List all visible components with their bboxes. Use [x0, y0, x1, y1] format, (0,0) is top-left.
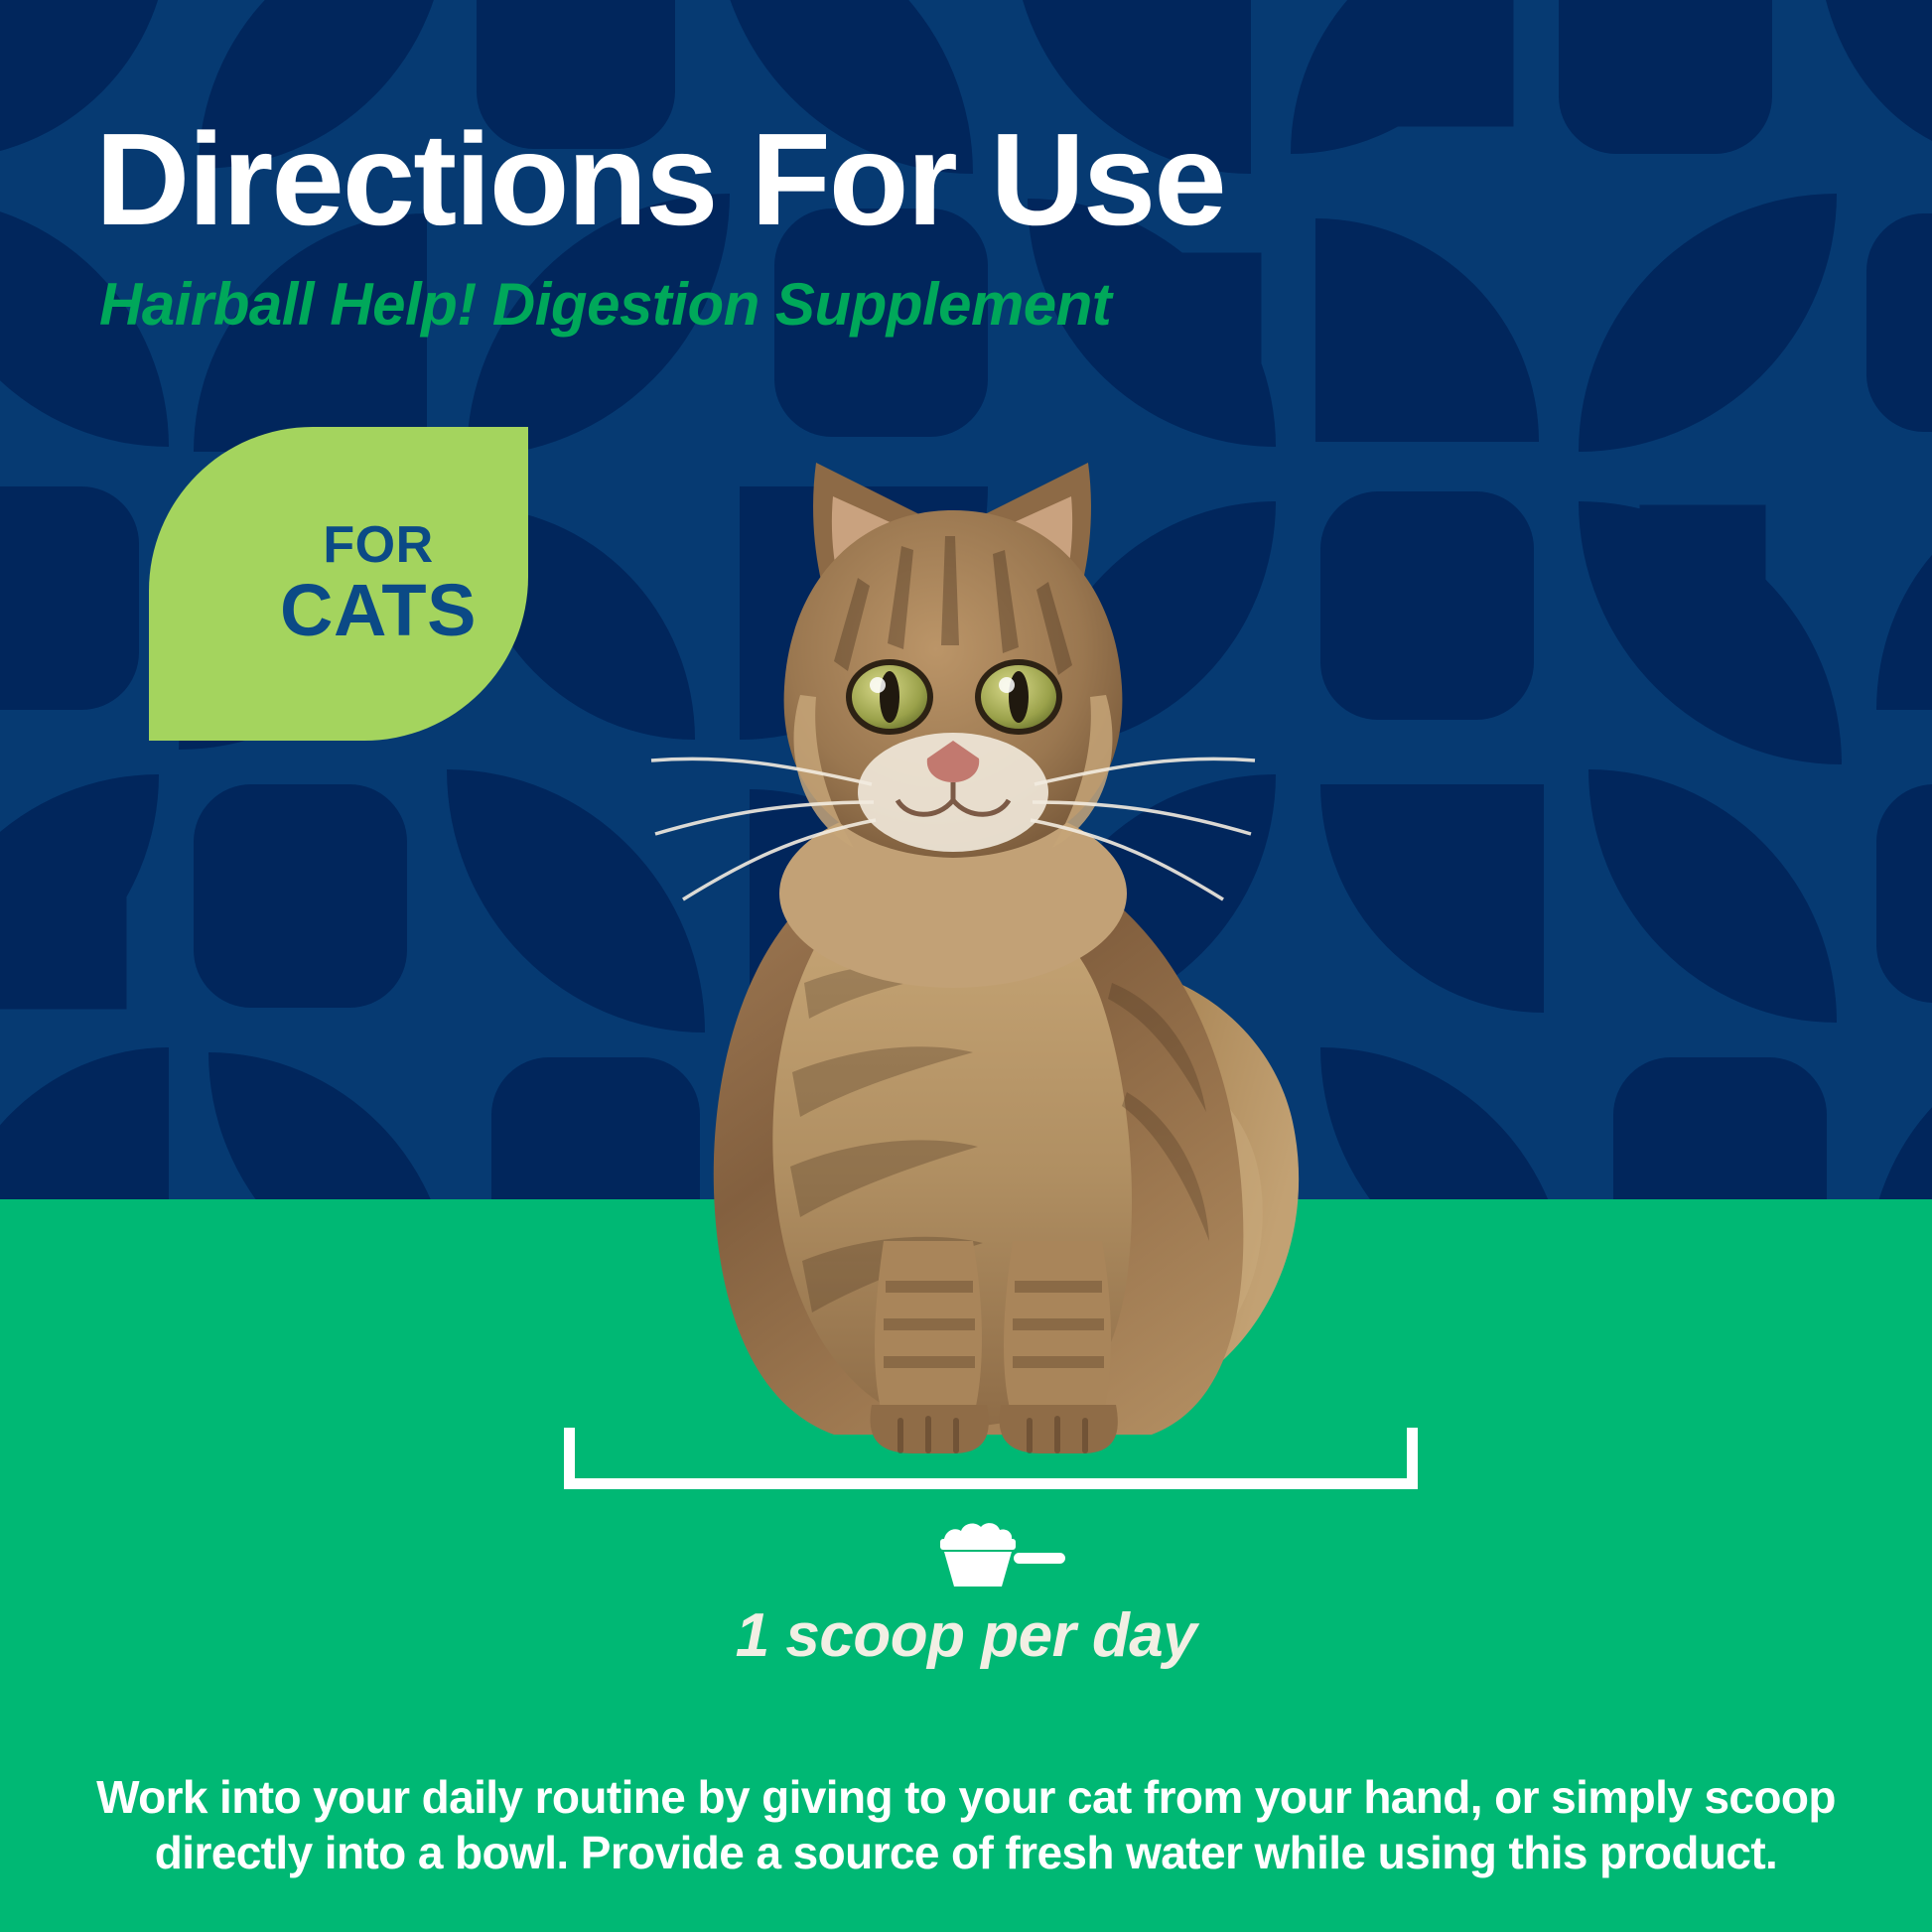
directions-text: Work into your daily routine by giving t…: [0, 1769, 1932, 1880]
for-cats-badge: FOR CATS: [149, 427, 528, 741]
page-subtitle: Hairball Help! Digestion Supplement: [99, 270, 1111, 339]
measurement-bracket: [564, 1428, 1418, 1489]
directions-line-2: directly into a bowl. Provide a source o…: [0, 1825, 1932, 1880]
directions-line-1: Work into your daily routine by giving t…: [0, 1769, 1932, 1825]
cat-photo: [556, 427, 1390, 1454]
badge-label-cats: CATS: [280, 572, 477, 649]
directions-for-use-poster: Directions For Use Hairball Help! Digest…: [0, 0, 1932, 1932]
badge-label-for: FOR: [323, 518, 433, 573]
page-title: Directions For Use: [95, 114, 1225, 245]
bracket-bar: [564, 1478, 1418, 1489]
scoop-icon: [928, 1517, 1067, 1588]
dose-caption: 1 scoop per day: [0, 1600, 1932, 1671]
